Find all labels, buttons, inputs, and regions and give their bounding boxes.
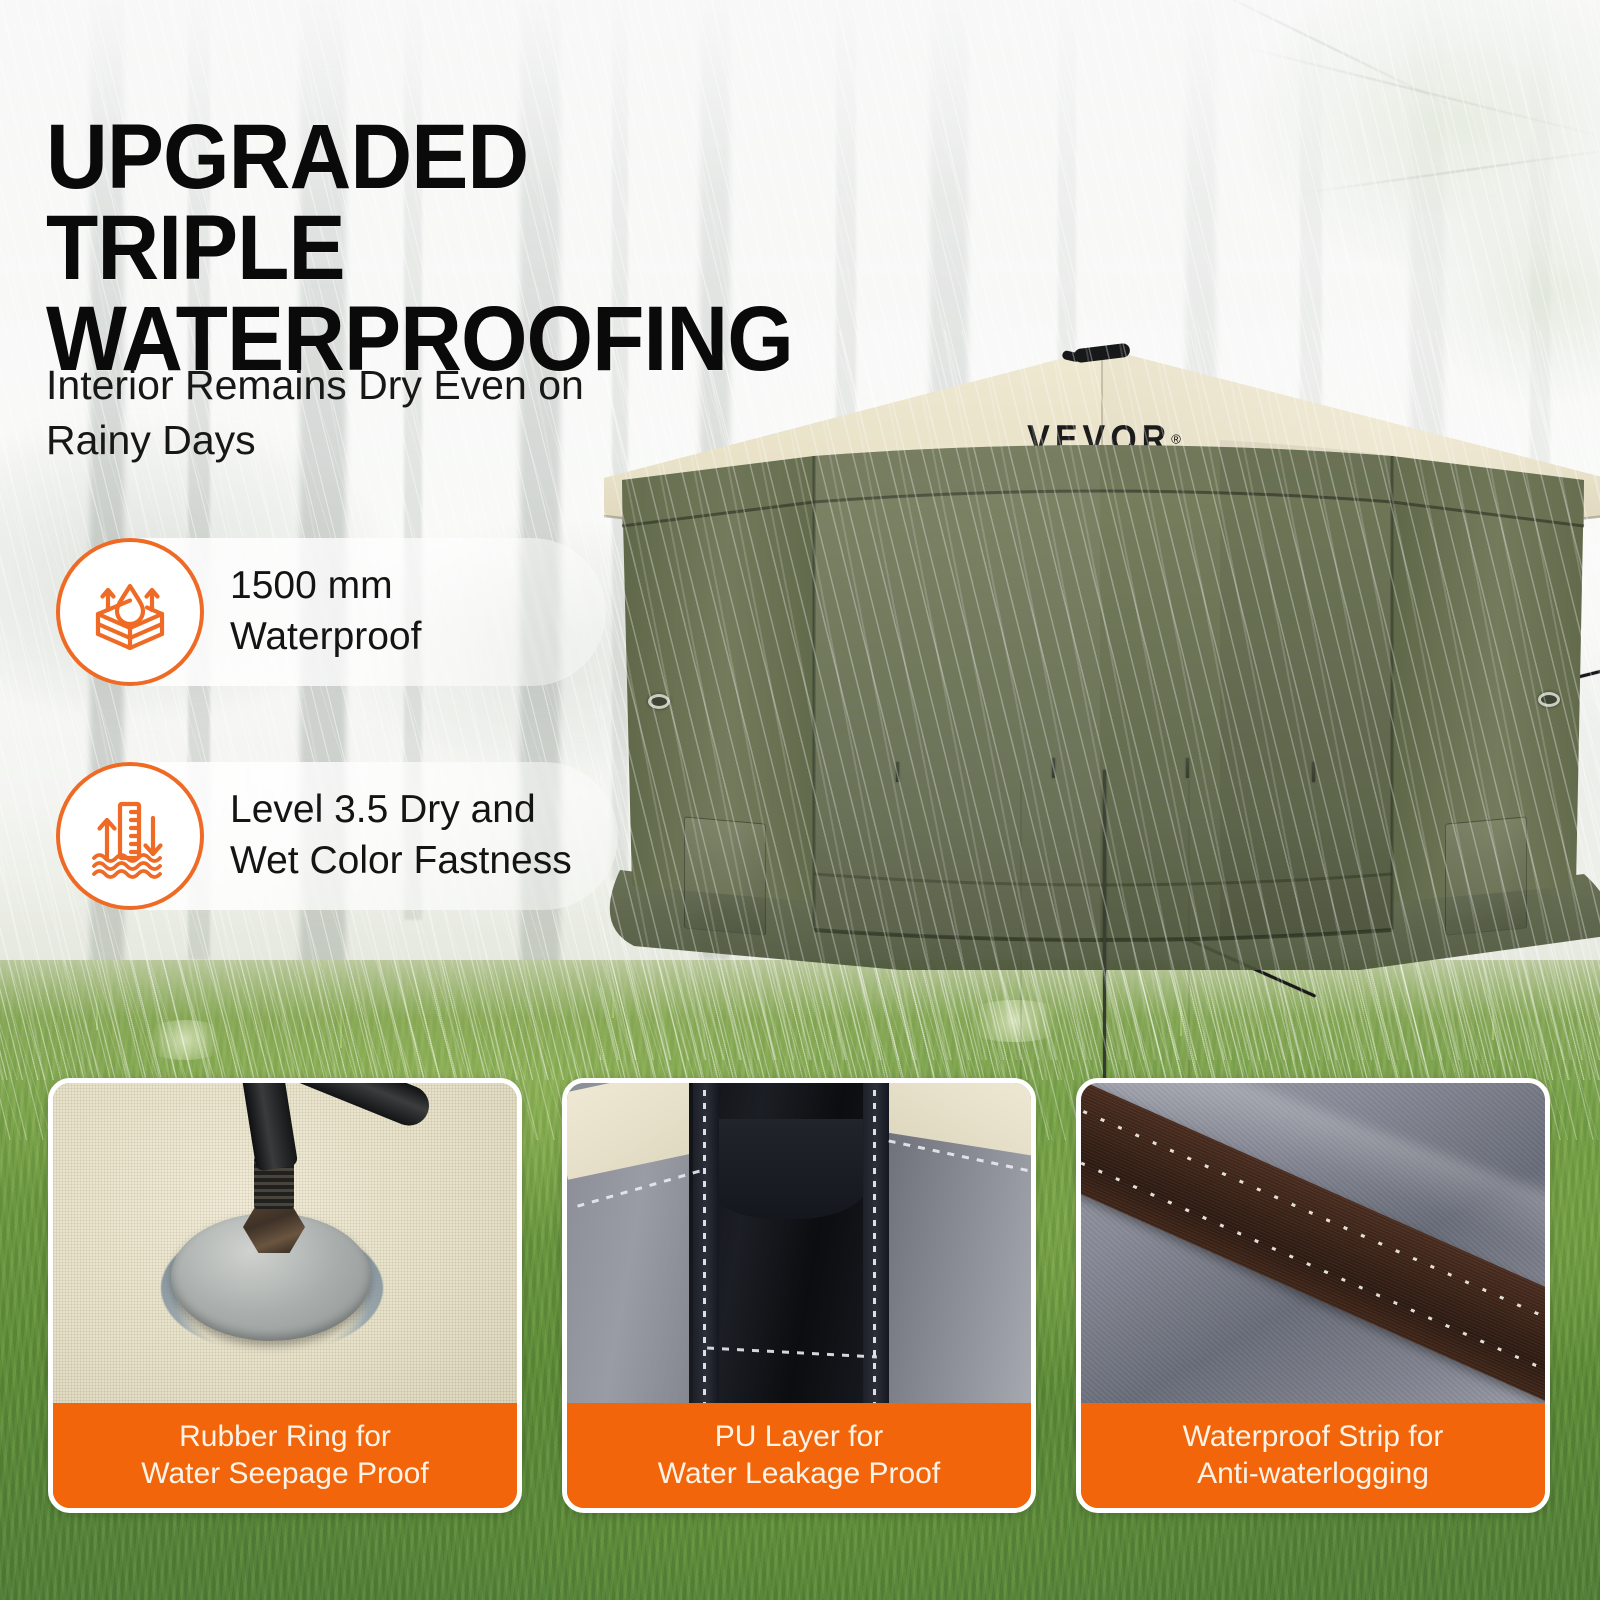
feature-1-line-1: 1500 mm <box>230 561 421 612</box>
card-2-caption-line-1: PU Layer for <box>715 1419 883 1456</box>
right-window-flap <box>1445 816 1527 935</box>
feature-2-line-2: Wet Color Fastness <box>230 836 572 887</box>
card-1-caption-line-1: Rubber Ring for <box>179 1419 391 1456</box>
valance-zip-pull-1 <box>896 762 899 782</box>
layers-waterproof-icon <box>56 538 204 686</box>
valance-zip-pull-4 <box>1312 762 1315 782</box>
feature-badge-waterproof-text: 1500 mm Waterproof <box>230 561 421 662</box>
waterproof-strip-photo <box>1081 1083 1545 1413</box>
valance-zip-pull-2 <box>1052 758 1055 778</box>
color-fastness-gauge-icon <box>56 762 204 910</box>
card-2-caption-line-2: Water Leakage Proof <box>658 1456 940 1493</box>
left-window-flap <box>684 816 766 935</box>
card-1-caption-line-2: Water Seepage Proof <box>141 1456 428 1493</box>
feature-1-line-2: Waterproof <box>230 612 421 663</box>
guy-line-grommet-right <box>1538 692 1560 707</box>
subheadline-line-1: Interior Remains Dry Even <box>46 362 527 408</box>
guy-line-grommet-left <box>648 694 670 709</box>
feature-badge-color-fastness-text: Level 3.5 Dry and Wet Color Fastness <box>230 785 572 886</box>
card-3-caption-line-1: Waterproof Strip for <box>1183 1419 1444 1456</box>
detail-card-2-caption: PU Layer for Water Leakage Proof <box>567 1403 1031 1508</box>
headline-line-1: UPGRADED TRIPLE <box>46 106 528 299</box>
feature-badge-waterproof: 1500 mm Waterproof <box>58 538 606 686</box>
product-marketing-image: VEVOR® CANOPY TENT & SHELTER TYPE-E Mode… <box>0 0 1600 1600</box>
valance-zip-pull-3 <box>1186 758 1189 778</box>
detail-card-waterproof-strip: Waterproof Strip for Anti-waterlogging <box>1076 1078 1550 1513</box>
feature-badge-color-fastness: Level 3.5 Dry and Wet Color Fastness <box>58 762 618 910</box>
detail-card-pu-layer: PU Layer for Water Leakage Proof <box>562 1078 1036 1513</box>
feature-2-line-1: Level 3.5 Dry and <box>230 785 572 836</box>
rubber-ring-grommet-photo <box>53 1083 517 1413</box>
detail-card-1-caption: Rubber Ring for Water Seepage Proof <box>53 1403 517 1508</box>
detail-card-rubber-ring: Rubber Ring for Water Seepage Proof <box>48 1078 522 1513</box>
detail-card-3-caption: Waterproof Strip for Anti-waterlogging <box>1081 1403 1545 1508</box>
card-3-caption-line-2: Anti-waterlogging <box>1197 1456 1429 1493</box>
page-title: UPGRADED TRIPLE WATERPROOFING <box>46 112 790 385</box>
gazebo-tent-product: VEVOR® CANOPY TENT & SHELTER TYPE-E Mode… <box>600 330 1600 1060</box>
pu-layer-seam-photo <box>567 1083 1031 1413</box>
page-subtitle: Interior Remains Dry Even on Rainy Days <box>46 358 686 467</box>
